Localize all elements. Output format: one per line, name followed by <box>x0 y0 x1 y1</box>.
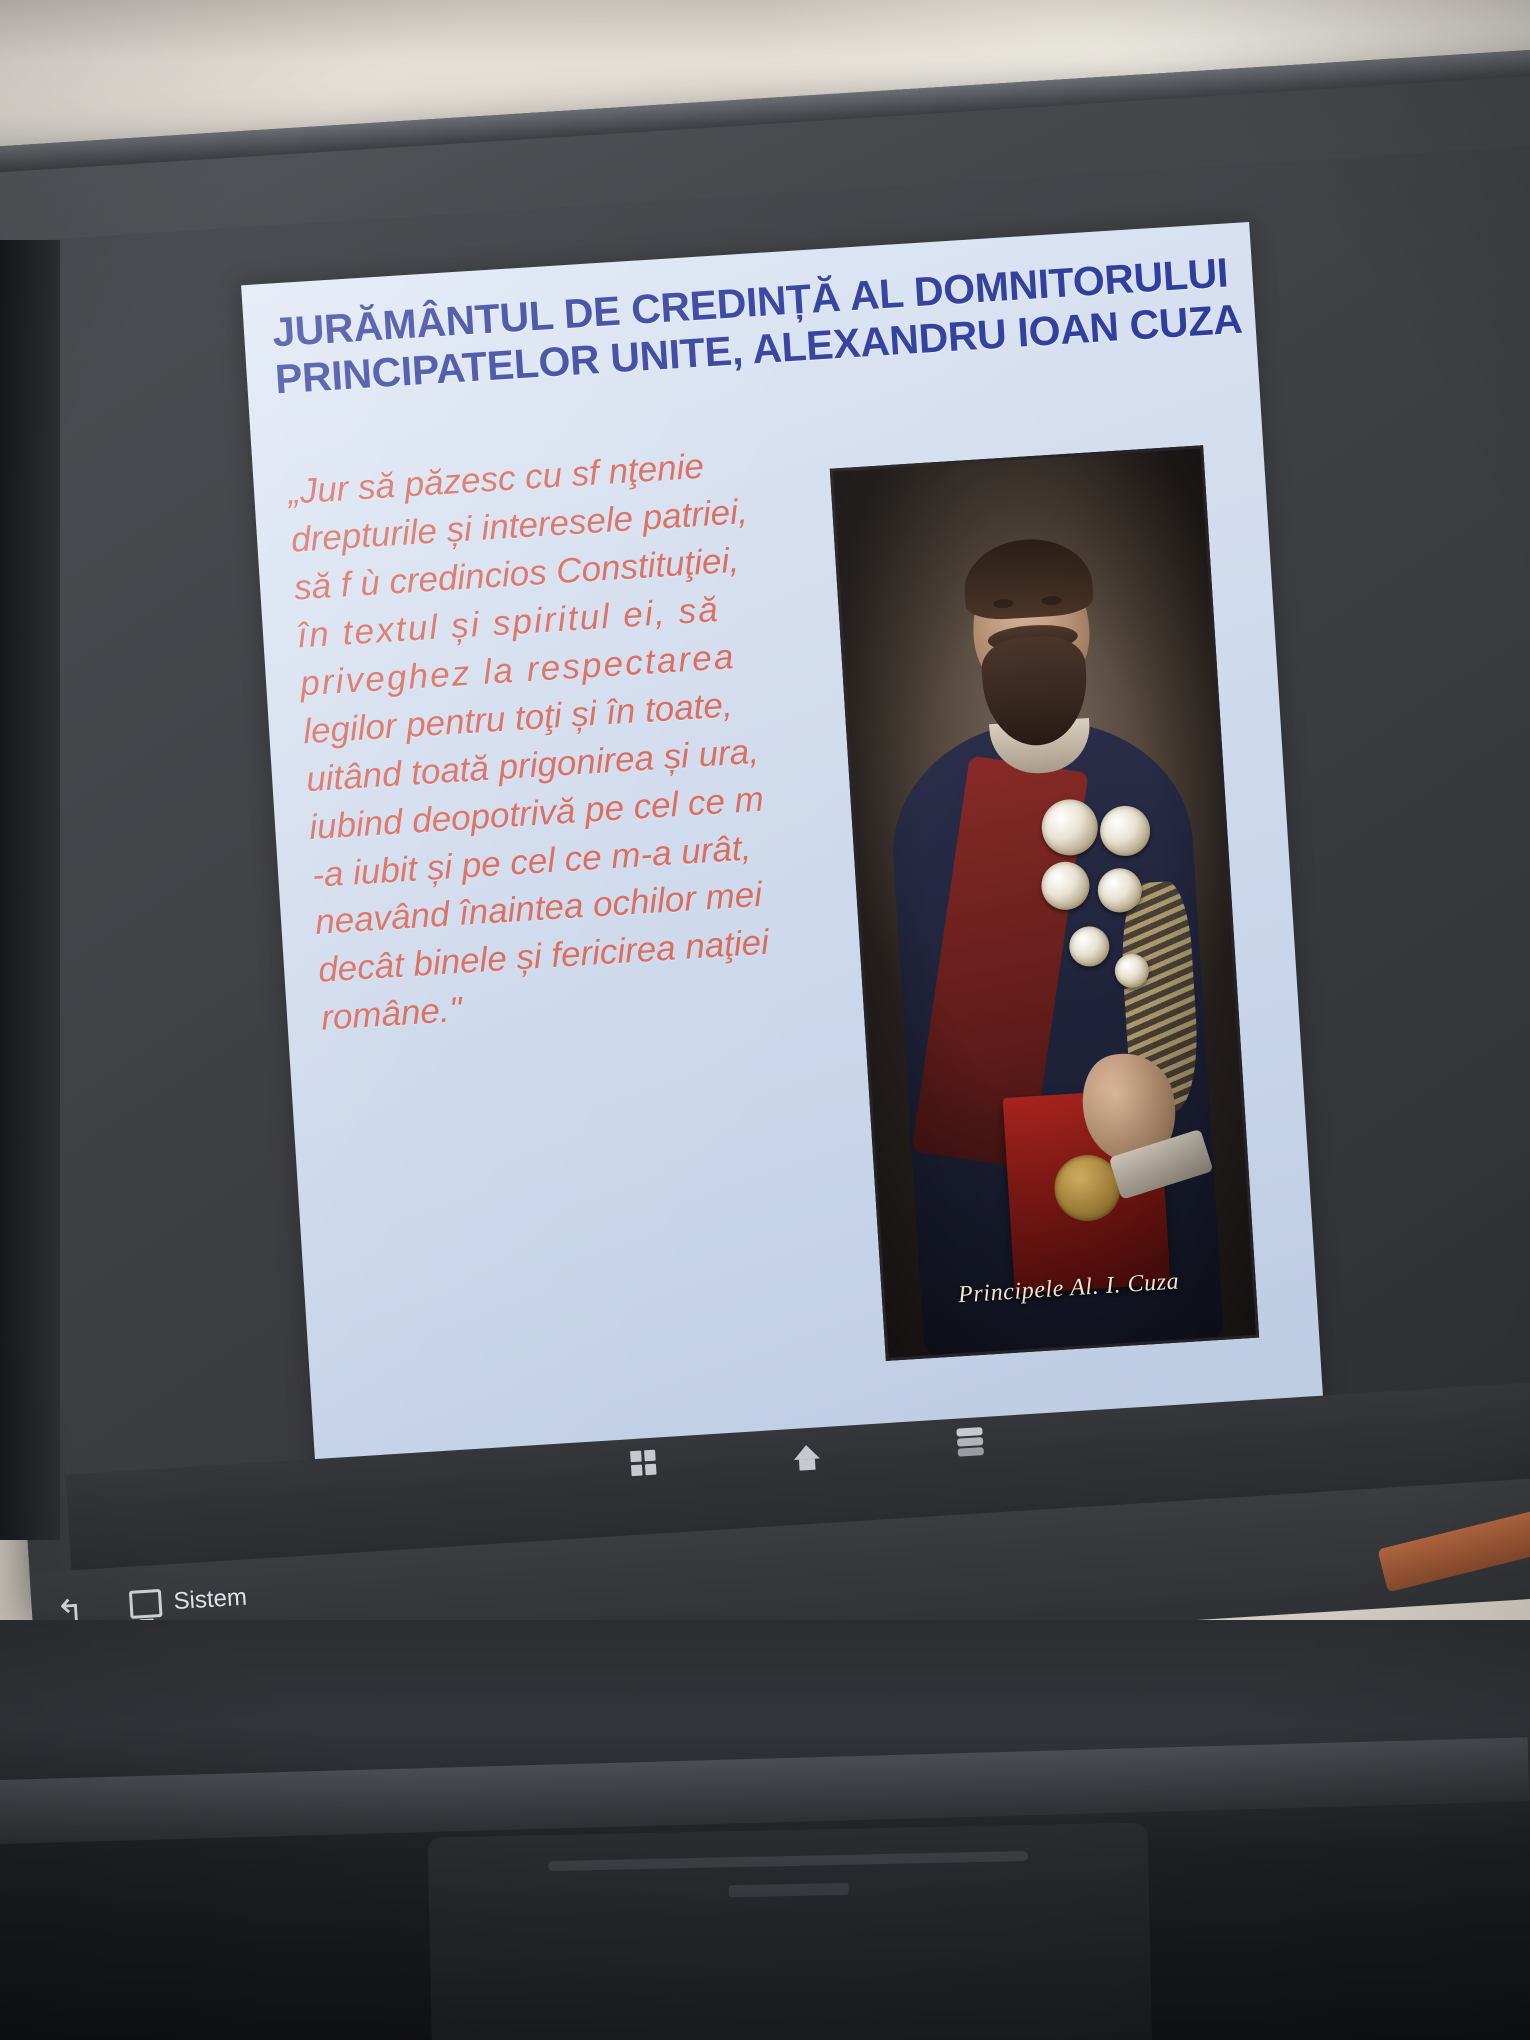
foreground-furniture <box>0 1620 1530 2040</box>
cuza-portrait-image: Principele Al. I. Cuza <box>830 445 1259 1361</box>
home-icon[interactable] <box>788 1433 824 1471</box>
slide-quote-text: „Jur să păzesc cu sf nţenie drepturile ș… <box>287 437 830 1043</box>
layers-stack-icon[interactable] <box>952 1423 988 1461</box>
presentation-slide[interactable]: JURĂMÂNTUL DE CREDINȚĂ AL DOMNITORULUI P… <box>241 222 1324 1483</box>
desk-edge <box>0 1737 1529 1844</box>
laptop-brand-mark <box>729 1883 849 1898</box>
laptop-lip <box>548 1851 1028 1871</box>
wall-shadow <box>0 0 1530 60</box>
interactive-display: JURĂMÂNTUL DE CREDINȚĂ AL DOMNITORULUI P… <box>0 45 1530 1608</box>
display-screen: JURĂMÂNTUL DE CREDINȚĂ AL DOMNITORULUI P… <box>0 143 1530 1571</box>
apps-grid-icon[interactable] <box>625 1443 661 1481</box>
monitor-icon <box>129 1589 163 1619</box>
slide-title: JURĂMÂNTUL DE CREDINȚĂ AL DOMNITORULUI P… <box>271 249 1233 402</box>
laptop-device <box>428 1822 1153 2040</box>
left-dark-edge <box>0 240 60 1540</box>
photo-scene: JURĂMÂNTUL DE CREDINȚĂ AL DOMNITORULUI P… <box>0 0 1530 2040</box>
system-button[interactable]: Sistem <box>129 1584 248 1619</box>
system-label: Sistem <box>173 1584 248 1617</box>
